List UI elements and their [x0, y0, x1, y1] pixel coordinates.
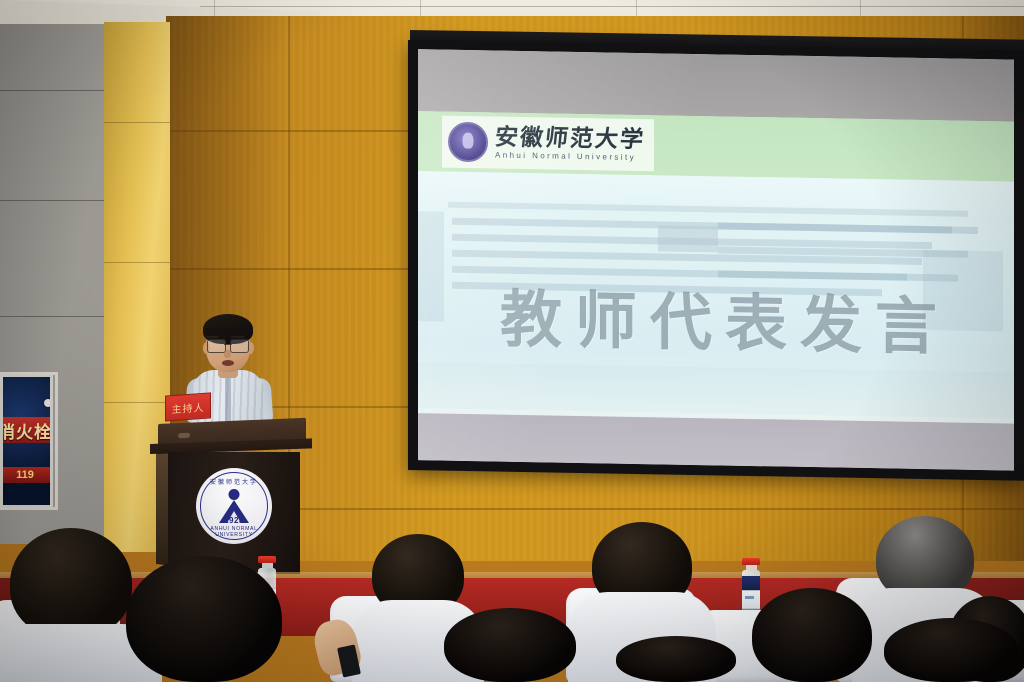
speaker-mouth — [222, 360, 234, 366]
emblem-figure-head — [229, 489, 240, 500]
bottle-label — [742, 590, 760, 609]
bottle-cap — [742, 558, 760, 565]
tea-bottle[interactable] — [742, 558, 760, 618]
speaker-nose — [224, 350, 231, 358]
slide-title: 教师代表发言 — [500, 269, 950, 367]
audience-head-foreground — [444, 608, 576, 682]
audience-head-foreground — [10, 528, 132, 638]
lens-left — [207, 339, 226, 353]
university-name-cn: 安徽师范大学 — [494, 126, 646, 152]
building-entrance — [658, 225, 718, 252]
slide-university-logo: 安徽师范大学 Anhui Normal University — [442, 116, 654, 172]
university-name-en: Anhui Normal University — [495, 152, 645, 163]
building-row — [718, 222, 978, 234]
fire-cabinet-label: 消火栓 — [0, 417, 50, 443]
projection-screen: 安徽师范大学 Anhui Normal University 教师代表发言 — [408, 40, 1024, 481]
pillar-seam — [104, 122, 170, 123]
slide-bottom-band — [418, 413, 1014, 470]
photo-ground — [418, 362, 1014, 418]
audience-head-foreground — [616, 636, 736, 682]
pillar-seam — [104, 402, 170, 403]
lectern-emblem: 安徽师范大学 1928 ANHUI NORMAL UNIVERSITY — [196, 468, 272, 544]
logo-text-group: 安徽师范大学 Anhui Normal University — [495, 126, 645, 163]
bottle-shrinkwrap — [742, 576, 760, 590]
lectern-knob-icon[interactable] — [178, 433, 190, 439]
emblem-text-cn: 安徽师范大学 — [196, 477, 272, 486]
university-crest-icon — [448, 122, 488, 163]
cabinet-handle-icon[interactable] — [44, 399, 50, 407]
emblem-year: 1928 — [196, 516, 272, 525]
red-name-card: 主持人 — [165, 392, 211, 421]
pillar-seam — [104, 262, 170, 263]
fire-hydrant-cabinet[interactable]: 消火栓 119 — [0, 377, 50, 505]
screen-surface: 安徽师范大学 Anhui Normal University 教师代表发言 — [418, 49, 1014, 470]
building-wing — [418, 211, 444, 321]
ceiling-seam — [200, 6, 1024, 7]
audience-head-foreground — [884, 618, 1018, 682]
emergency-number: 119 — [0, 467, 50, 483]
audience-head-foreground — [126, 556, 282, 682]
lens-right — [230, 339, 249, 353]
auditorium-scene: 消火栓 119 — [0, 0, 1024, 682]
emblem-text-en: ANHUI NORMAL UNIVERSITY — [198, 526, 270, 538]
audience-head — [752, 588, 872, 682]
bottle-cap — [258, 556, 276, 563]
name-card-label: 主持人 — [172, 398, 205, 415]
slide-top-band — [418, 49, 1014, 121]
wall-seam — [0, 316, 106, 317]
wall-seam — [0, 90, 106, 91]
wall-seam — [0, 200, 106, 201]
